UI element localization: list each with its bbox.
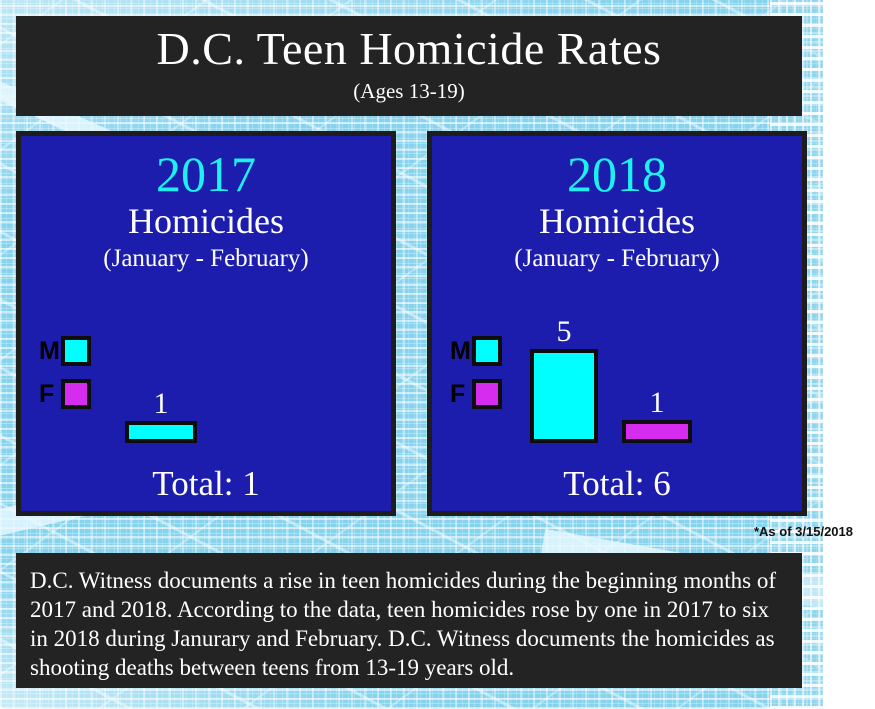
caption-text: D.C. Witness documents a rise in teen ho… — [30, 566, 784, 682]
bar-value-label: 1 — [622, 387, 692, 419]
bar-male — [530, 349, 598, 443]
panel-heading: Homicides — [432, 200, 802, 242]
panel-year-label: 2017 — [21, 146, 391, 202]
panel-total-2017: Total: 1 — [21, 463, 391, 505]
panel-year-label: 2018 — [432, 146, 802, 202]
page-subtitle: (Ages 13-19) — [16, 78, 802, 104]
bar-chart-2018: 5 1 — [432, 253, 802, 443]
bar-group-female: 1 — [622, 387, 692, 443]
bar-group-male: 5 — [530, 316, 598, 443]
panel-heading: Homicides — [21, 200, 391, 242]
year-panel-2018: 2018 Homicides (January - February) M F … — [427, 131, 807, 516]
as-of-footnote: *As of 3/15/2018 — [754, 524, 853, 540]
infographic-root: D.C. Teen Homicide Rates (Ages 13-19) 20… — [0, 0, 875, 709]
bar-group-male: 1 — [125, 388, 197, 443]
bar-value-label: 1 — [125, 388, 197, 420]
bar-female — [622, 420, 692, 443]
year-panel-2017: 2017 Homicides (January - February) M F … — [16, 131, 396, 516]
bar-value-label: 5 — [530, 316, 598, 348]
bar-chart-2017: 1 — [21, 253, 391, 443]
bar-male — [125, 421, 197, 443]
title-banner: D.C. Teen Homicide Rates (Ages 13-19) — [16, 16, 802, 116]
caption-panel: D.C. Witness documents a rise in teen ho… — [16, 553, 802, 688]
page-title: D.C. Teen Homicide Rates — [16, 22, 802, 76]
panel-total-2018: Total: 6 — [432, 463, 802, 505]
